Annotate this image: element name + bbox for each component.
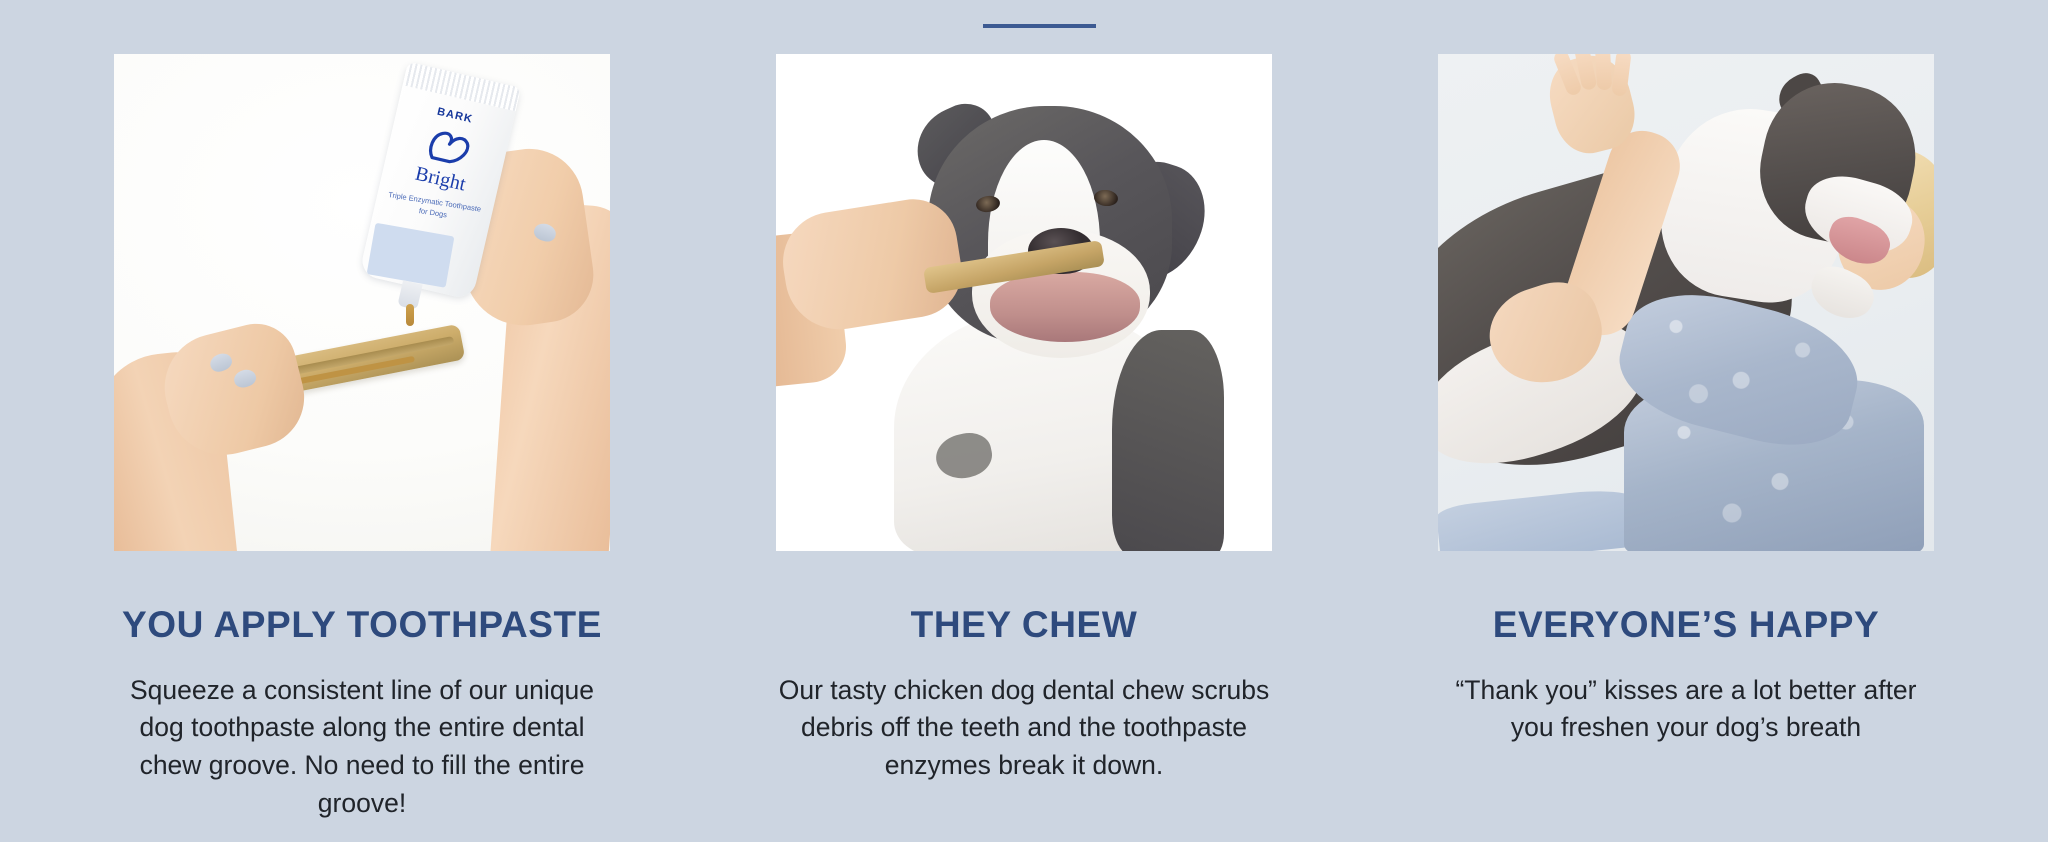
step-body-text: “Thank you” kisses are a lot better afte… bbox=[1440, 672, 1932, 747]
step-card-they-chew: THEY CHEW Our tasty chicken dog dental c… bbox=[776, 54, 1272, 822]
hands-applying-toothpaste-to-dental-chew-image: BARK Bright Triple Enzymatic Toothpaste … bbox=[114, 54, 610, 551]
step-headline: YOU APPLY TOOTHPASTE bbox=[122, 605, 602, 646]
dog-shoulder bbox=[1112, 330, 1224, 551]
finger bbox=[1595, 54, 1612, 90]
step-headline: EVERYONE’S HAPPY bbox=[1493, 605, 1880, 646]
step-body-text: Squeeze a consistent line of our unique … bbox=[116, 672, 608, 823]
step-card-apply-toothpaste: BARK Bright Triple Enzymatic Toothpaste … bbox=[114, 54, 610, 822]
tube-info-panel bbox=[367, 223, 455, 288]
dog-licking-womans-face-image bbox=[1438, 54, 1934, 551]
toothpaste-drop bbox=[406, 304, 414, 326]
bark-monogram-icon bbox=[423, 123, 472, 169]
step-card-everyones-happy: EVERYONE’S HAPPY “Thank you” kisses are … bbox=[1438, 54, 1934, 822]
top-section-divider bbox=[983, 24, 1096, 28]
step-headline: THEY CHEW bbox=[911, 605, 1138, 646]
steps-columns: BARK Bright Triple Enzymatic Toothpaste … bbox=[0, 54, 2048, 822]
how-it-works-section: BARK Bright Triple Enzymatic Toothpaste … bbox=[0, 0, 2048, 842]
step-body-text: Our tasty chicken dog dental chew scrubs… bbox=[778, 672, 1270, 785]
dog-chewing-dental-stick-image bbox=[776, 54, 1272, 551]
dog-mouth bbox=[990, 272, 1140, 342]
